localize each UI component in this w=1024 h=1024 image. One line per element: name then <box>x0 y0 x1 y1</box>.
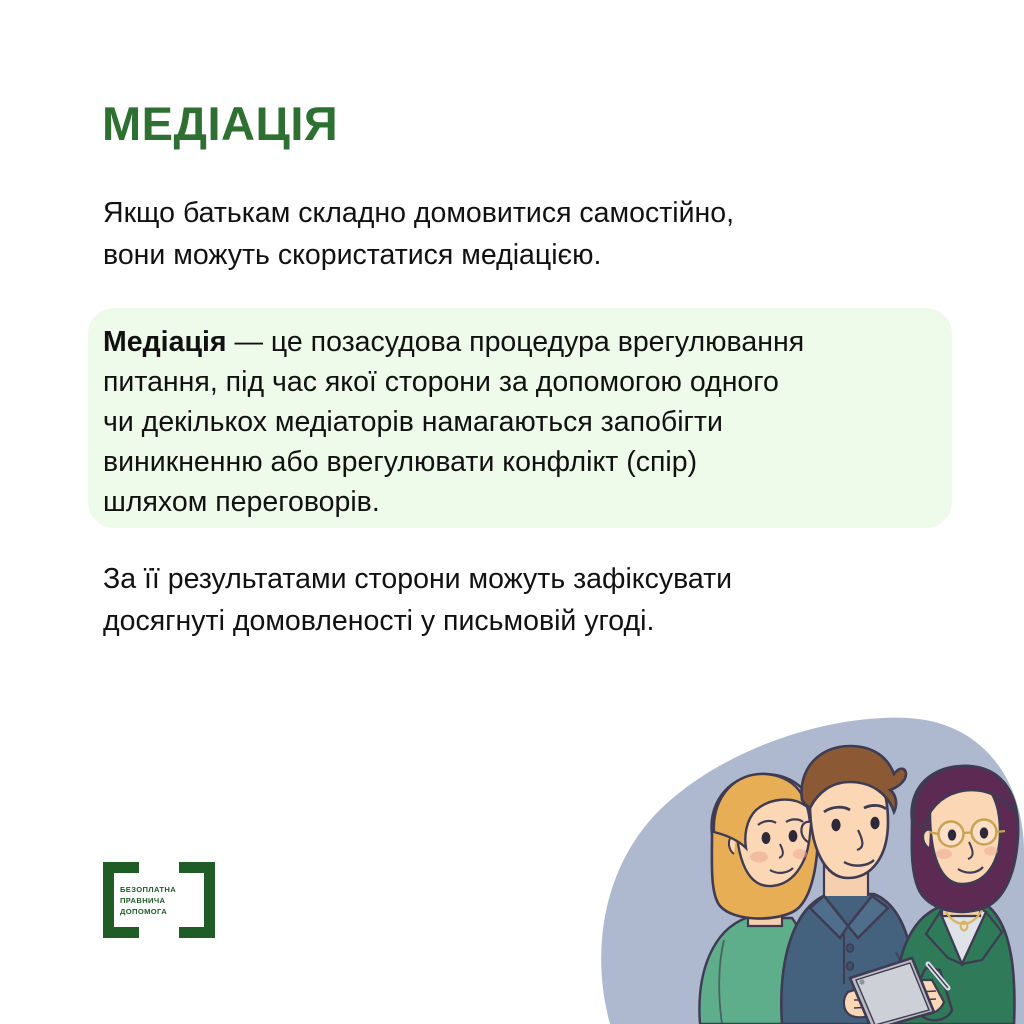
eye <box>789 830 798 842</box>
definition-line-5: шляхом переговорів. <box>103 482 943 522</box>
outro-line-2: досягнуті домовленості у письмовій угоді… <box>103 600 923 642</box>
outro-paragraph: За її результатами сторони можуть зафікс… <box>103 558 923 642</box>
logo-line-2: ПРАВНИЧА <box>120 896 166 905</box>
logo-line-1: БЕЗОПЛАТНА <box>120 885 176 894</box>
intro-line-1: Якщо батькам складно домовитися самостій… <box>103 192 903 234</box>
definition-line-4: виникненню або врегулювати конфлікт (спі… <box>103 442 943 482</box>
eye <box>948 829 956 840</box>
definition-line-3: чи декількох медіаторів намагаються запо… <box>103 402 943 442</box>
eye <box>831 819 840 831</box>
three-people-with-tablet-illustration <box>596 712 1024 1024</box>
button <box>847 962 854 970</box>
definition-paragraph: Медіація — це позасудова процедура врегу… <box>103 322 943 522</box>
intro-paragraph: Якщо батькам складно домовитися самостій… <box>103 192 903 276</box>
definition-dash: — <box>227 326 271 358</box>
eye <box>980 827 988 838</box>
definition-term: Медіація <box>103 326 227 358</box>
outro-line-1: За її результатами сторони можуть зафікс… <box>103 558 923 600</box>
page-title: МЕДІАЦІЯ <box>102 98 338 150</box>
intro-line-2: вони можуть скористатися медіацією. <box>103 234 903 276</box>
infographic-page: МЕДІАЦІЯ Якщо батькам складно домовитися… <box>0 0 1024 1024</box>
eye <box>762 832 771 844</box>
logo-bracket-right <box>179 862 215 938</box>
definition-line-1-rest: це позасудова процедура врегулювання <box>271 326 804 358</box>
eye <box>870 817 879 829</box>
definition-line-1: Медіація — це позасудова процедура врегу… <box>103 322 943 362</box>
logo-line-3: ДОПОМОГА <box>120 907 167 916</box>
legal-aid-logo: БЕЗОПЛАТНА ПРАВНИЧА ДОПОМОГА <box>103 862 215 938</box>
definition-line-2: питання, під час якої сторони за допомог… <box>103 362 943 402</box>
button <box>847 944 854 952</box>
